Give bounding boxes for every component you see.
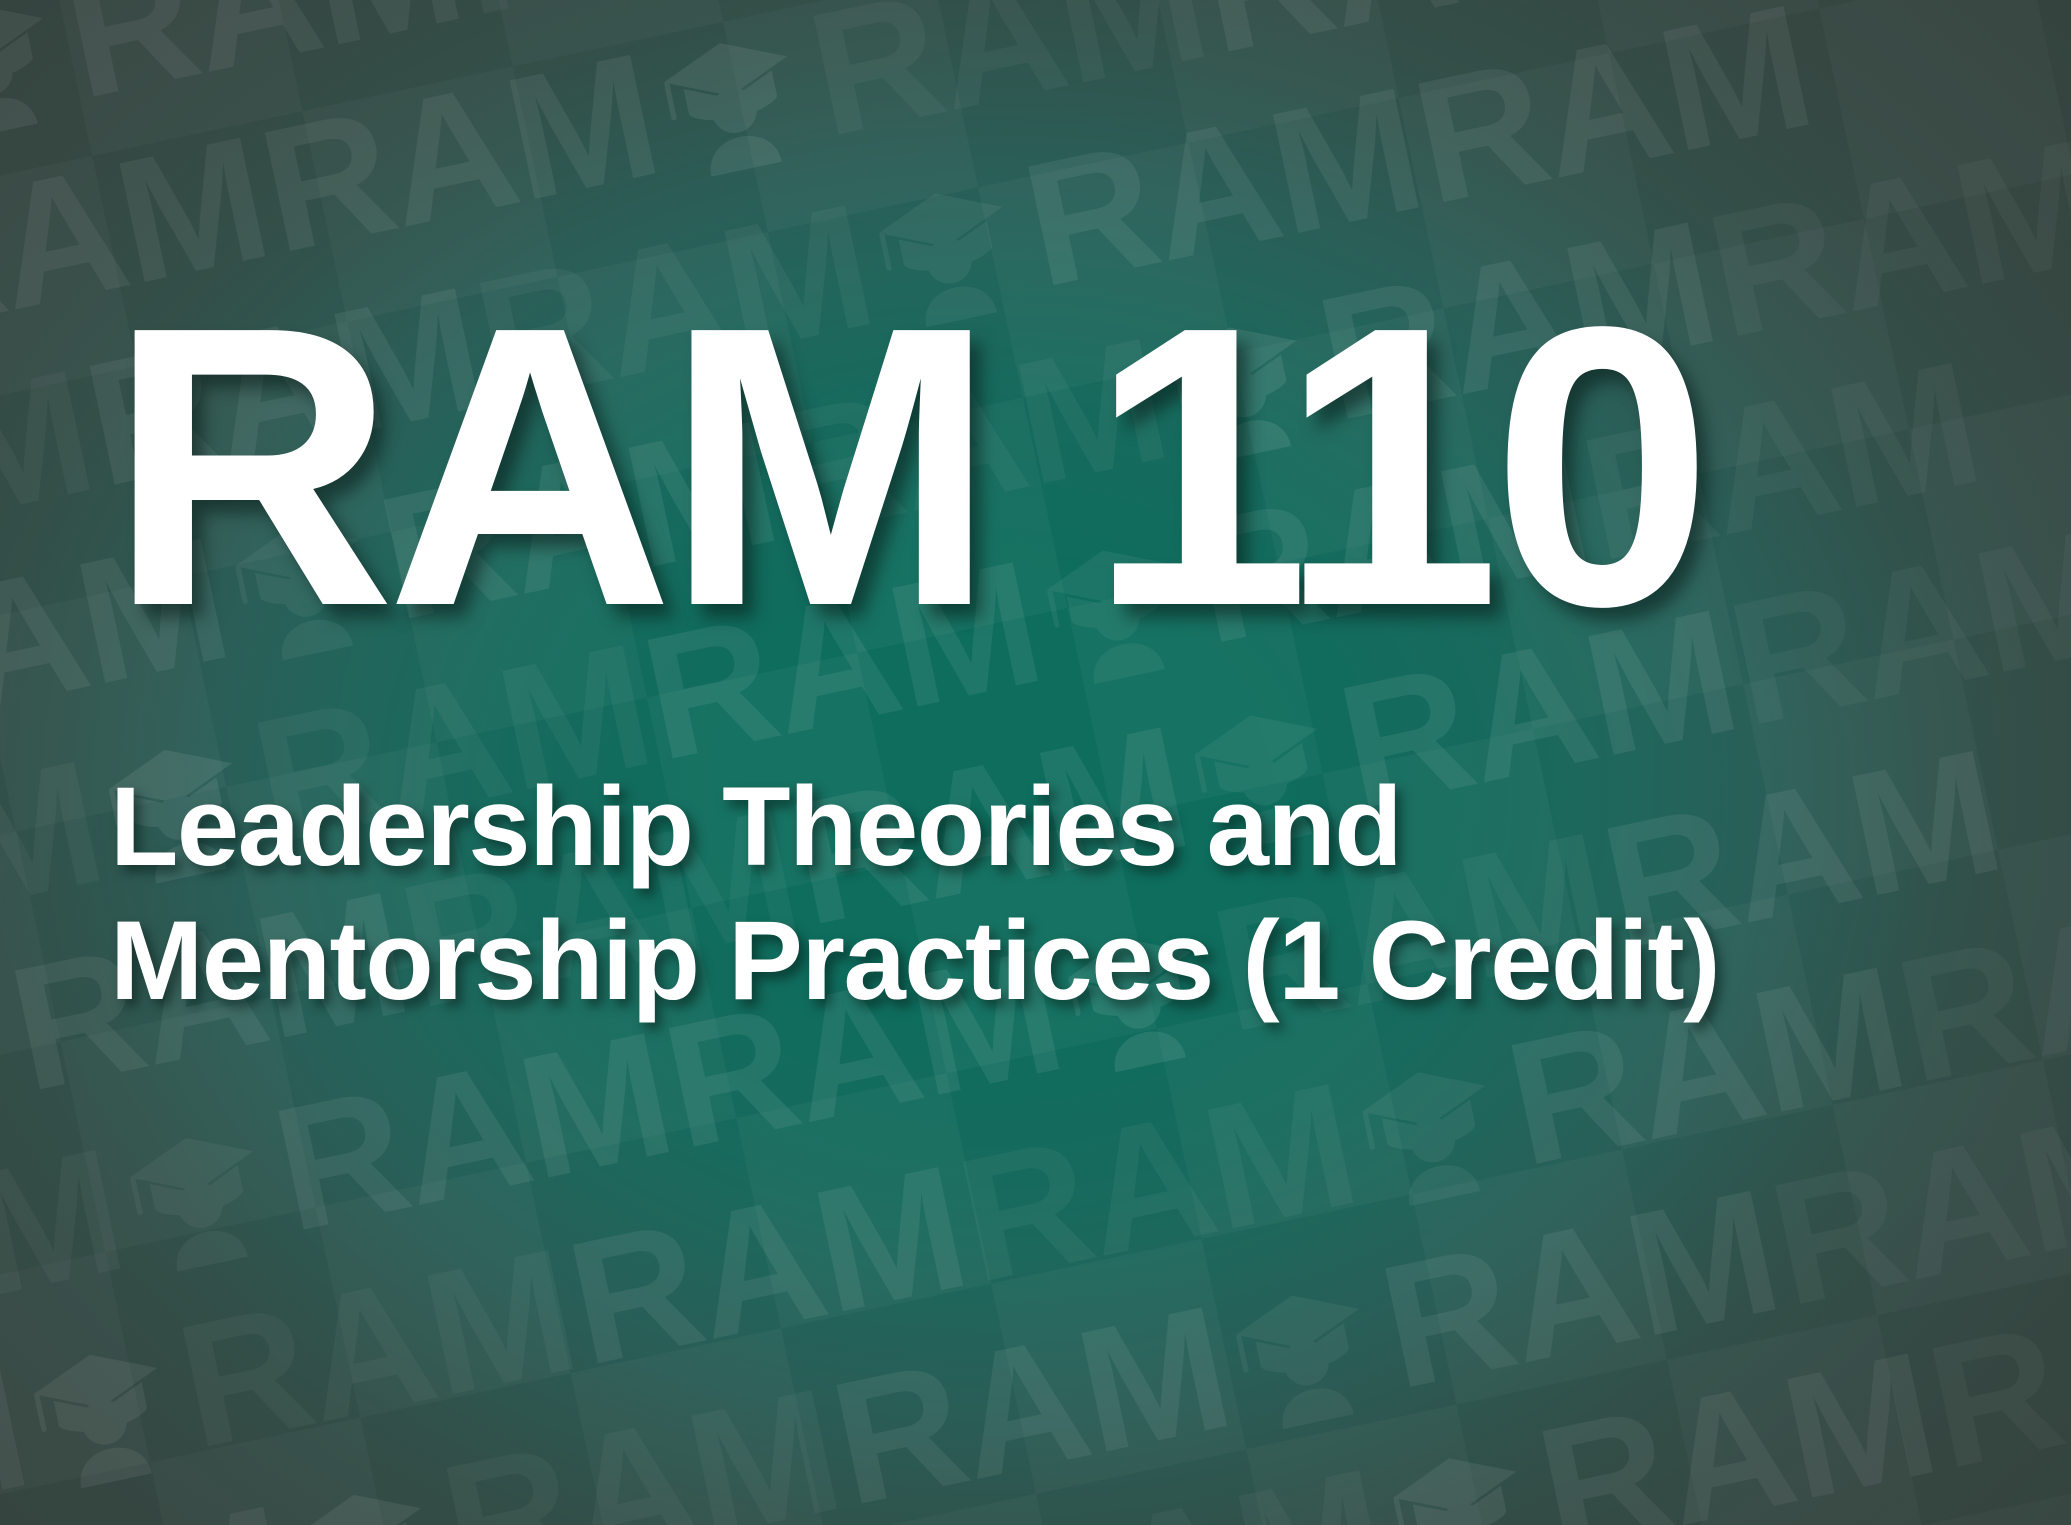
course-title-slide: RAM RAM RAM [0, 0, 2071, 1525]
slide-content: RAM 110 Leadership Theories and Mentorsh… [0, 0, 2071, 1525]
course-title-line-2: Mentorship Practices (1 Credit) [110, 894, 1670, 1028]
course-title: Leadership Theories and Mentorship Pract… [110, 760, 1670, 1029]
course-title-line-1: Leadership Theories and [110, 760, 1670, 894]
course-code: RAM 110 [108, 268, 1704, 666]
